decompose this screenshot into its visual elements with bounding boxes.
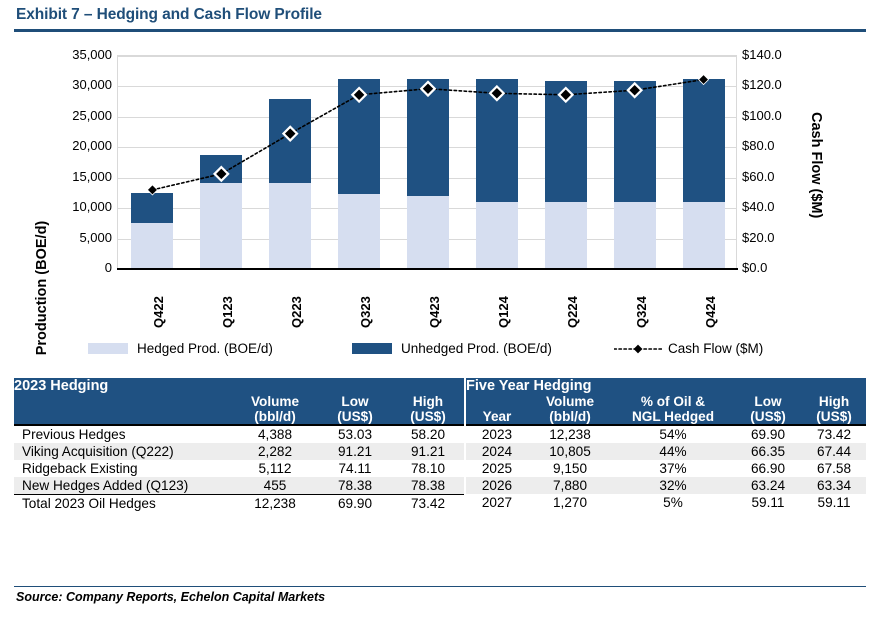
cell-volume: 10,805: [528, 443, 612, 460]
cash-flow-marker: [352, 88, 366, 102]
y-tick-label: 15,000: [36, 171, 112, 183]
cash-flow-marker: [559, 88, 573, 102]
x-tick-label: Q423: [406, 276, 448, 336]
cell-low: 63.24: [734, 477, 802, 494]
cell-low: 66.90: [734, 460, 802, 477]
col-header-volume-l2: (bbl/d): [232, 409, 318, 425]
col-header-low-l2: (US$): [318, 409, 392, 425]
legend-swatch-icon: [88, 343, 128, 354]
cell-low: 53.03: [318, 425, 392, 443]
y2-tick-label: $140.0: [742, 49, 812, 61]
cell-year: 2026: [466, 477, 528, 494]
col-header-name-l2: [14, 409, 232, 425]
x-tick-label: Q424: [682, 276, 724, 336]
y2-tick-label: $60.0: [742, 171, 812, 183]
cell-low: 59.11: [734, 494, 802, 511]
table-row[interactable]: 202312,23854%69.9073.42: [466, 425, 866, 443]
footer-divider: [14, 586, 866, 587]
hedging-cash-flow-chart: Production (BOE/d) Cash Flow ($M) 05,000…: [0, 36, 880, 366]
cell-high: 78.38: [392, 477, 464, 495]
y2-tick-label: $120.0: [742, 79, 812, 91]
cash-flow-marker: [628, 83, 642, 97]
col-header-pct-l1: % of Oil &: [612, 394, 734, 409]
cash-flow-marker: [490, 86, 504, 100]
cell-volume: 4,388: [232, 425, 318, 443]
cell-low: 66.35: [734, 443, 802, 460]
table-left-title-row: 2023 Hedging: [14, 378, 464, 394]
col-header-low-l1: Low: [734, 394, 802, 409]
cell-volume: 2,282: [232, 443, 318, 460]
cash-flow-marker: [699, 75, 709, 85]
x-tick-label: Q223: [268, 276, 310, 336]
legend-label: Cash Flow ($M): [668, 341, 763, 356]
table-right-header-row-2: Year (bbl/d) NGL Hedged (US$) (US$): [466, 409, 866, 425]
exhibit-header: Exhibit 7 – Hedging and Cash Flow Profil…: [0, 0, 880, 34]
cell-high: 63.34: [802, 477, 866, 494]
cell-volume: 9,150: [528, 460, 612, 477]
cell-volume: 455: [232, 477, 318, 495]
col-header-volume-l1: Volume: [528, 394, 612, 409]
x-tick-label: Q422: [130, 276, 172, 336]
legend-dotted-line-icon: [614, 342, 662, 354]
y-axis-title: Production (BOE/d): [22, 108, 46, 288]
x-tick-label-text: Q323: [358, 296, 373, 328]
table-row[interactable]: 20267,88032%63.2463.34: [466, 477, 866, 494]
cell-low: 78.38: [318, 477, 392, 495]
cell-low: 91.21: [318, 443, 392, 460]
plot-area: [117, 55, 737, 268]
cell-pct-hedged: 37%: [612, 460, 734, 477]
col-header-low-l1: Low: [318, 394, 392, 409]
x-tick-label-text: Q324: [634, 296, 649, 328]
y2-tick-label: $20.0: [742, 232, 812, 244]
cell-volume: 7,880: [528, 477, 612, 494]
x-tick-label-text: Q124: [496, 296, 511, 328]
title-underline: [14, 29, 866, 32]
y-tick-label: 20,000: [36, 140, 112, 152]
cell-volume: 1,270: [528, 494, 612, 511]
y-tick-label: 30,000: [36, 79, 112, 91]
table-row[interactable]: 20271,2705%59.1159.11: [466, 494, 866, 511]
legend-label: Hedged Prod. (BOE/d): [137, 341, 273, 356]
table-left-header-row-2: (bbl/d) (US$) (US$): [14, 409, 464, 425]
table-row[interactable]: 20259,15037%66.9067.58: [466, 460, 866, 477]
cell-pct-hedged: 54%: [612, 425, 734, 443]
legend-item[interactable]: Cash Flow ($M): [614, 338, 763, 358]
x-tick-label-text: Q422: [151, 296, 166, 328]
y2-tick-label: $80.0: [742, 140, 812, 152]
cash-flow-marker: [215, 167, 229, 181]
cell-low: 69.90: [734, 425, 802, 443]
cash-flow-marker: [147, 185, 157, 195]
cell-row-name: New Hedges Added (Q123): [14, 477, 232, 495]
cash-flow-marker: [283, 127, 297, 141]
cash-flow-line-series: [118, 56, 738, 269]
x-tick-label-text: Q223: [289, 296, 304, 328]
x-tick-label: Q324: [613, 276, 655, 336]
cell-high: 78.10: [392, 460, 464, 477]
legend-item[interactable]: Hedged Prod. (BOE/d): [88, 338, 273, 358]
col-header-high-l2: (US$): [802, 409, 866, 425]
x-tick-label-text: Q224: [565, 296, 580, 328]
cell-row-name: Viking Acquisition (Q222): [14, 443, 232, 460]
table-2023-hedging: 2023 Hedging Volume Low High (bbl/d) (US…: [14, 378, 464, 512]
table-row[interactable]: Viking Acquisition (Q222)2,28291.2191.21: [14, 443, 464, 460]
source-note: Source: Company Reports, Echelon Capital…: [16, 590, 325, 604]
table-left-header-row-1: Volume Low High: [14, 394, 464, 409]
x-tick-label: Q124: [475, 276, 517, 336]
x-tick-label-text: Q424: [703, 296, 718, 328]
cash-flow-marker: [421, 82, 435, 96]
col-header-pct-l2: NGL Hedged: [612, 409, 734, 425]
col-header-high-l2: (US$): [392, 409, 464, 425]
legend-item[interactable]: Unhedged Prod. (BOE/d): [352, 338, 552, 358]
cell-total-volume: 12,238: [232, 495, 318, 513]
cell-total-low: 69.90: [318, 495, 392, 513]
cell-row-name: Previous Hedges: [14, 425, 232, 443]
y2-tick-label: $40.0: [742, 201, 812, 213]
cell-high: 58.20: [392, 425, 464, 443]
x-tick-label: Q323: [337, 276, 379, 336]
cell-high: 59.11: [802, 494, 866, 511]
cell-pct-hedged: 5%: [612, 494, 734, 511]
cell-total-name: Total 2023 Oil Hedges: [14, 495, 232, 513]
legend-label: Unhedged Prod. (BOE/d): [401, 341, 552, 356]
legend-swatch-icon: [352, 343, 392, 354]
cell-high: 67.58: [802, 460, 866, 477]
cell-pct-hedged: 44%: [612, 443, 734, 460]
col-header-high-l1: High: [392, 394, 464, 409]
x-tick-label-text: Q123: [220, 296, 235, 328]
cell-volume: 5,112: [232, 460, 318, 477]
cell-high: 73.42: [802, 425, 866, 443]
cell-year: 2027: [466, 494, 528, 511]
table-five-year-hedging: Five Year Hedging Volume % of Oil & Low …: [466, 378, 866, 511]
chart-legend: Hedged Prod. (BOE/d)Unhedged Prod. (BOE/…: [0, 338, 880, 364]
table-left-title: 2023 Hedging: [14, 378, 464, 394]
table-right-title-row: Five Year Hedging: [466, 378, 866, 394]
table-row[interactable]: New Hedges Added (Q123)45578.3878.38: [14, 477, 464, 495]
y-tick-label: 25,000: [36, 110, 112, 122]
col-header-volume-l2: (bbl/d): [528, 409, 612, 425]
y-tick-label: 0: [36, 262, 112, 274]
col-header-volume-l1: Volume: [232, 394, 318, 409]
cell-year: 2024: [466, 443, 528, 460]
y2-tick-label: $0.0: [742, 262, 812, 274]
col-header-high-l1: High: [802, 394, 866, 409]
cell-total-high: 73.42: [392, 495, 464, 513]
table-row[interactable]: 202410,80544%66.3567.44: [466, 443, 866, 460]
x-axis-line: [117, 268, 738, 270]
col-header-year-l1: [466, 394, 528, 409]
page-title: Exhibit 7 – Hedging and Cash Flow Profil…: [16, 6, 322, 24]
cell-row-name: Ridgeback Existing: [14, 460, 232, 477]
col-header-name-l1: [14, 394, 232, 409]
y-tick-label: 10,000: [36, 201, 112, 213]
table-right-header-row-1: Volume % of Oil & Low High: [466, 394, 866, 409]
col-header-low-l2: (US$): [734, 409, 802, 425]
table-right-title: Five Year Hedging: [466, 378, 866, 394]
y2-tick-label: $100.0: [742, 110, 812, 122]
x-tick-label: Q123: [199, 276, 241, 336]
col-header-year-l2: Year: [466, 409, 528, 425]
cell-volume: 12,238: [528, 425, 612, 443]
y-tick-label: 35,000: [36, 49, 112, 61]
cell-pct-hedged: 32%: [612, 477, 734, 494]
cell-year: 2025: [466, 460, 528, 477]
cell-high: 67.44: [802, 443, 866, 460]
table-total-row[interactable]: Total 2023 Oil Hedges12,23869.9073.42: [14, 495, 464, 513]
table-row[interactable]: Previous Hedges4,38853.0358.20: [14, 425, 464, 443]
cell-low: 74.11: [318, 460, 392, 477]
x-tick-label: Q224: [544, 276, 586, 336]
cell-high: 91.21: [392, 443, 464, 460]
x-tick-label-text: Q423: [427, 296, 442, 328]
cell-year: 2023: [466, 425, 528, 443]
y-tick-label: 5,000: [36, 232, 112, 244]
table-row[interactable]: Ridgeback Existing5,11274.1178.10: [14, 460, 464, 477]
